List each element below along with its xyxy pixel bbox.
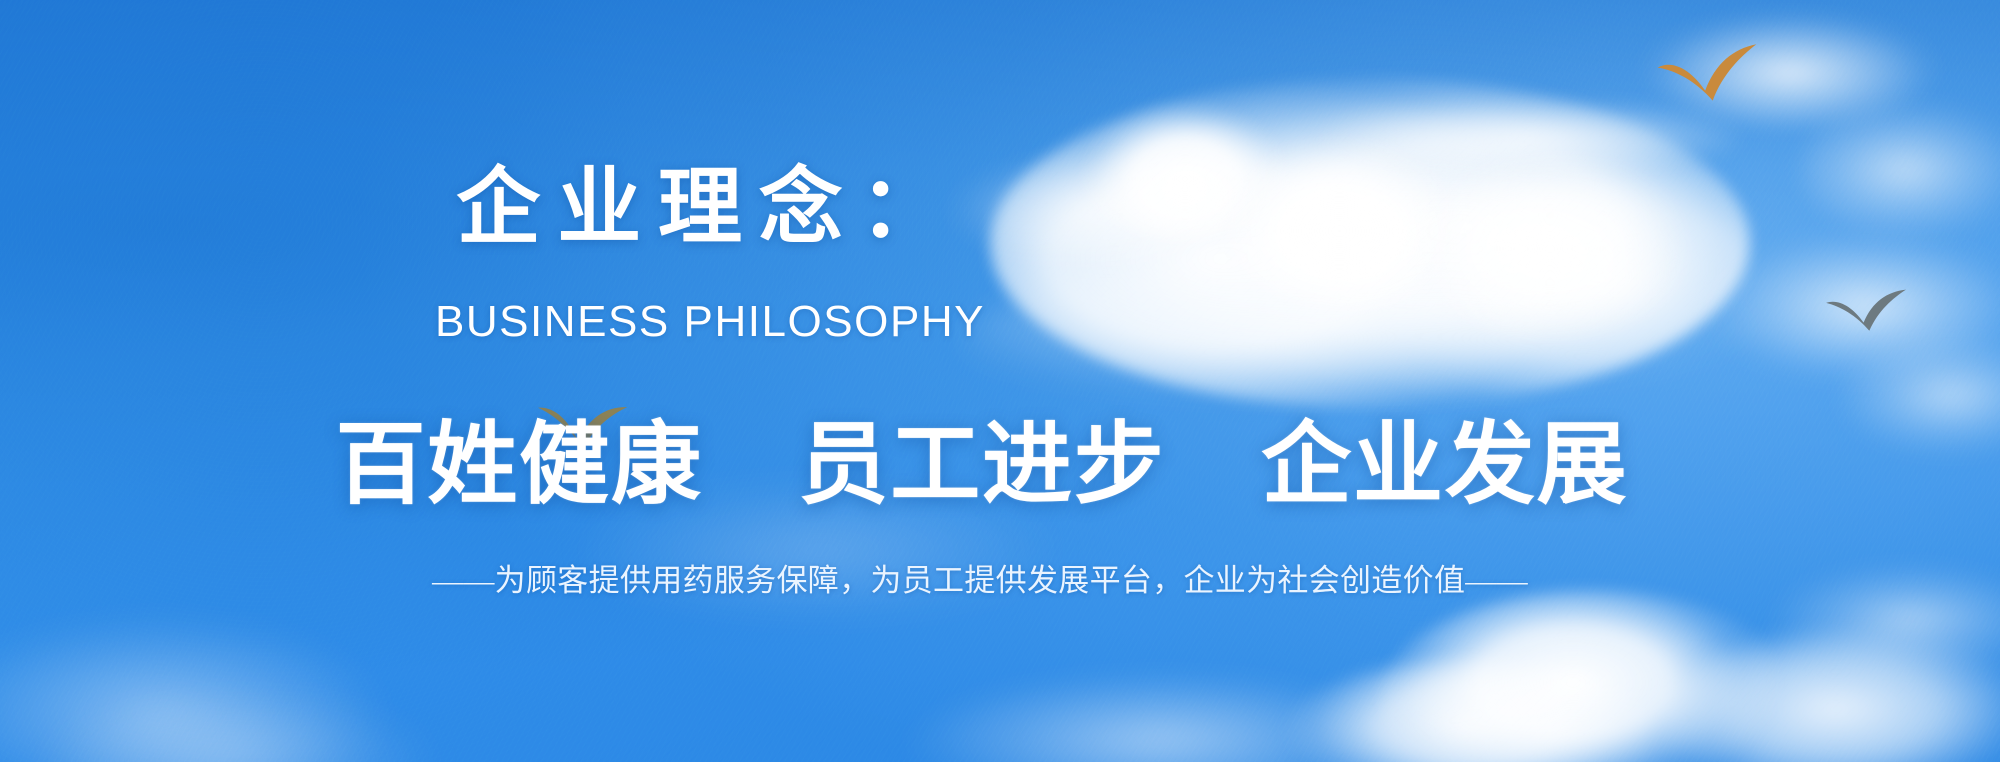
business-philosophy-banner: 企业理念： BUSINESS PHILOSOPHY 百姓健康 员工进步 企业发展… [0,0,2000,762]
page-title: 企业理念： [0,165,1700,249]
tagline: ——为顾客提供用药服务保障，为员工提供发展平台，企业为社会创造价值—— [0,565,1980,596]
slogan-part-three: 企业发展 [1261,415,1628,515]
slogan: 百姓健康 员工进步 企业发展 [0,415,1982,516]
bird-gray-right-icon [1820,285,1915,339]
slogan-part-one: 百姓健康 [336,415,703,515]
bird-gold-top-right-icon [1652,39,1768,110]
page-subtitle-english: BUSINESS PHILOSOPHY [0,300,1710,344]
sky-grain-texture [0,0,2000,762]
slogan-part-two: 员工进步 [798,415,1165,515]
